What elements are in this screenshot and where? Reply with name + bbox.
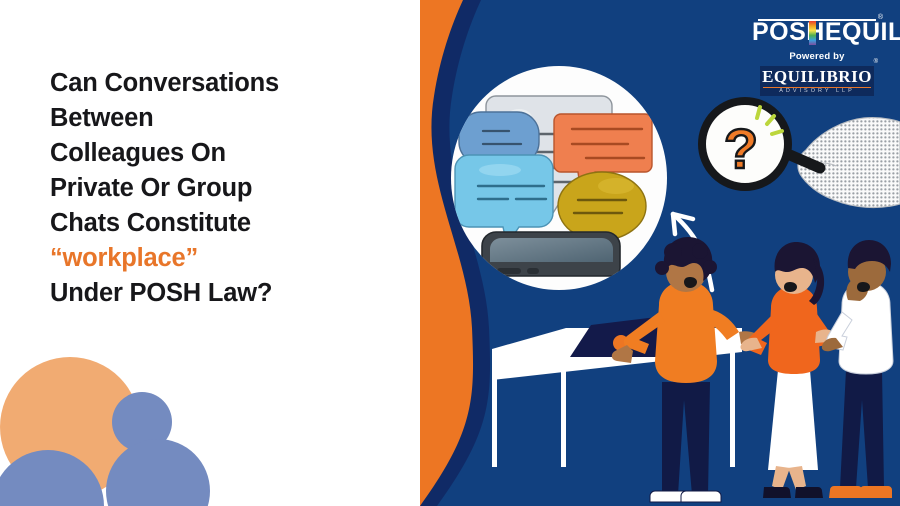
parent-brand-block: EQUILIBRIO ADVISORY LLP ® [760,66,874,96]
poster-canvas: Can Conversations Between Colleagues On … [0,0,900,506]
powered-by-label: Powered by [752,51,882,62]
headline-line-7: Under POSH Law? [50,276,380,311]
logo-gradient-bar [809,21,816,45]
parent-brand-underline [763,87,871,89]
headline-line-2: Between [50,101,380,136]
headline-highlight-workplace: “workplace” [50,241,380,276]
headline-line-4: Private Or Group [50,171,380,206]
logo-top-rule [758,19,876,21]
brand-logo: POSHEQUILI ® Powered by EQUILIBRIO ADVIS… [752,18,882,96]
headline-block: Can Conversations Between Colleagues On … [50,66,380,311]
headline-line-1: Can Conversations [50,66,380,101]
headline-line-5: Chats Constitute [50,206,380,241]
headline-line-3: Colleagues On [50,136,380,171]
logo-registered-mark: ® [878,14,883,21]
parent-registered-mark: ® [874,59,878,65]
logo-wordmark: POSHEQUILI [752,18,882,46]
logo-wordmark-group: POSHEQUILI ® [752,18,882,46]
parent-brand-name: EQUILIBRIO [760,68,874,86]
parent-brand-subtitle: ADVISORY LLP [760,87,874,95]
